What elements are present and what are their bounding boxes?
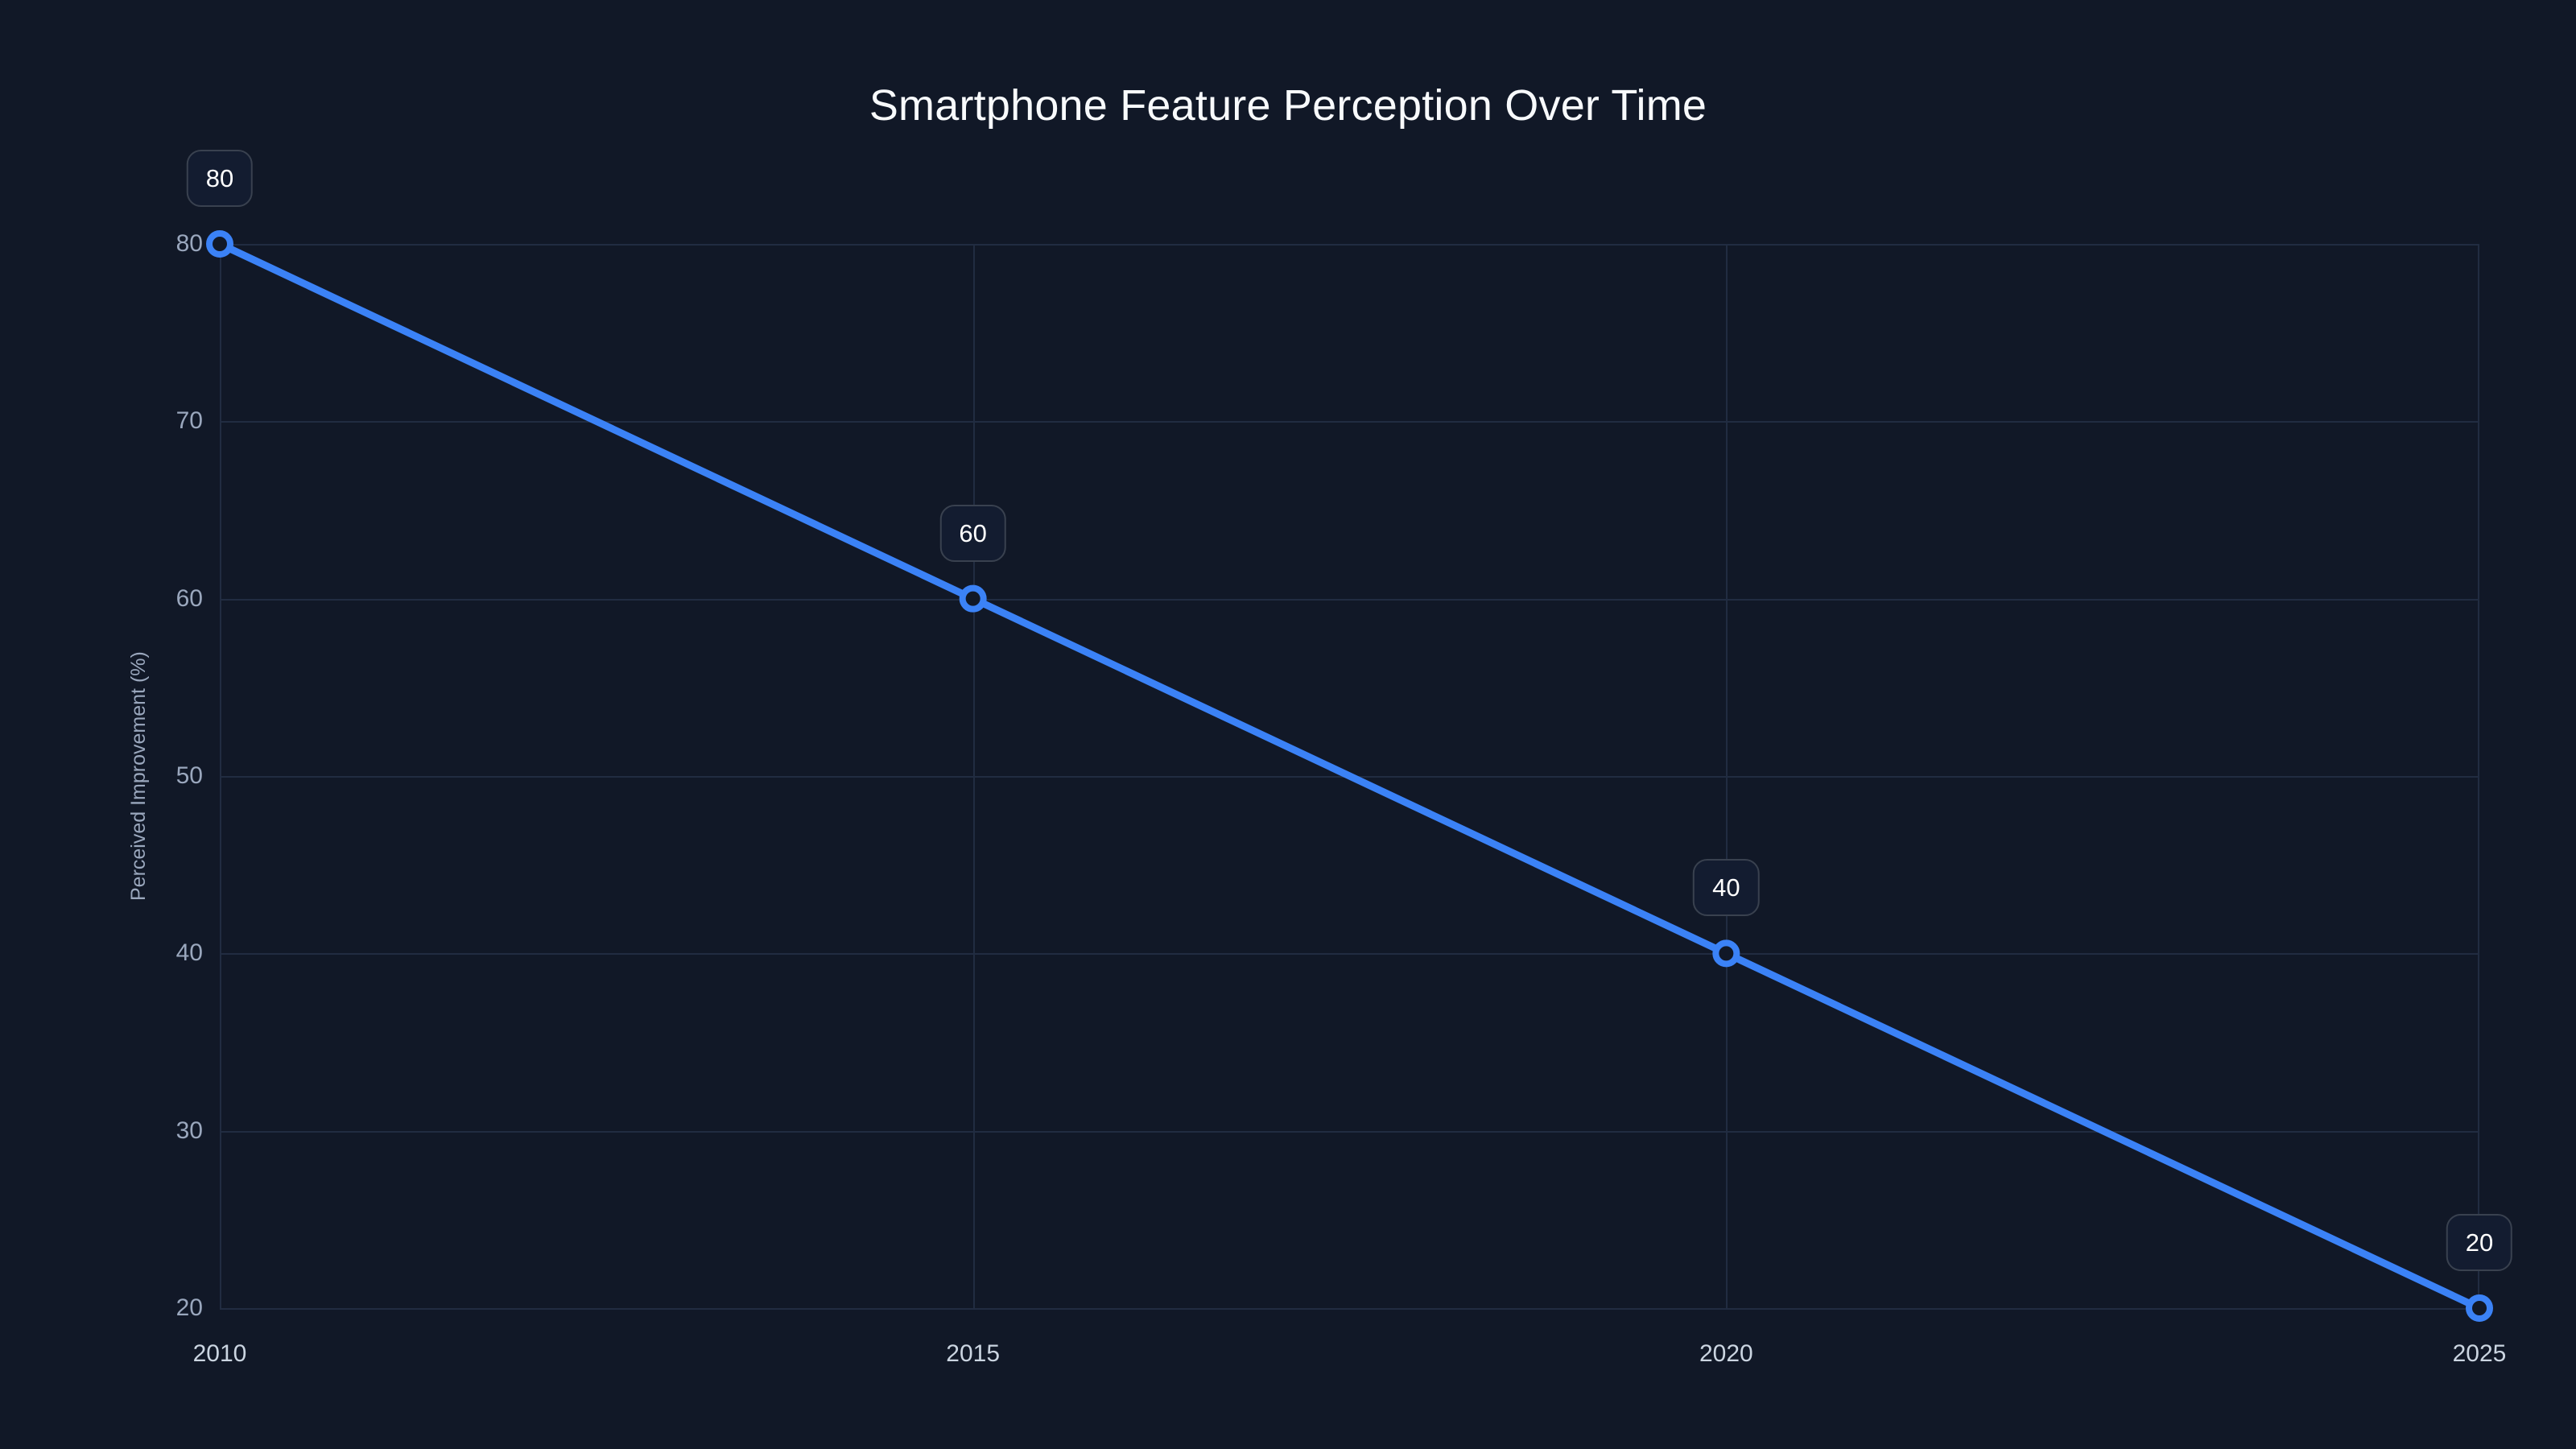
plot-area [220, 244, 2479, 1308]
gridline-vertical [1726, 244, 1728, 1308]
data-point-value-badge: 20 [2446, 1214, 2512, 1271]
y-axis-tick-label: 60 [158, 587, 203, 611]
x-axis-tick-label: 2010 [193, 1342, 247, 1366]
gridline-horizontal [220, 953, 2479, 955]
data-point-value-badge: 80 [187, 150, 253, 207]
x-axis-tick-label: 2015 [946, 1342, 1000, 1366]
gridline-horizontal [220, 1131, 2479, 1133]
x-axis-tick-label: 2025 [2453, 1342, 2507, 1366]
data-point-value-badge: 40 [1693, 859, 1759, 916]
y-axis-tick-label: 50 [158, 764, 203, 788]
y-axis-tick-label: 80 [158, 232, 203, 256]
gridline-horizontal [220, 421, 2479, 423]
y-axis-title: Perceived Improvement (%) [129, 651, 149, 901]
gridline-horizontal [220, 599, 2479, 601]
chart-canvas: Smartphone Feature Perception Over Time … [0, 0, 2576, 1449]
gridline-vertical [220, 244, 221, 1308]
y-axis-tick-label: 40 [158, 941, 203, 965]
gridline-horizontal [220, 776, 2479, 778]
page-title: Smartphone Feature Perception Over Time [0, 84, 2576, 127]
y-axis-tick-label: 20 [158, 1296, 203, 1320]
gridline-horizontal [220, 244, 2479, 246]
gridline-horizontal [220, 1308, 2479, 1310]
gridline-vertical [973, 244, 975, 1308]
y-axis-tick-label: 70 [158, 409, 203, 433]
x-axis-tick-label: 2020 [1699, 1342, 1753, 1366]
y-axis-tick-label: 30 [158, 1119, 203, 1143]
data-point-value-badge: 60 [939, 505, 1005, 562]
gridline-vertical [2478, 244, 2479, 1308]
